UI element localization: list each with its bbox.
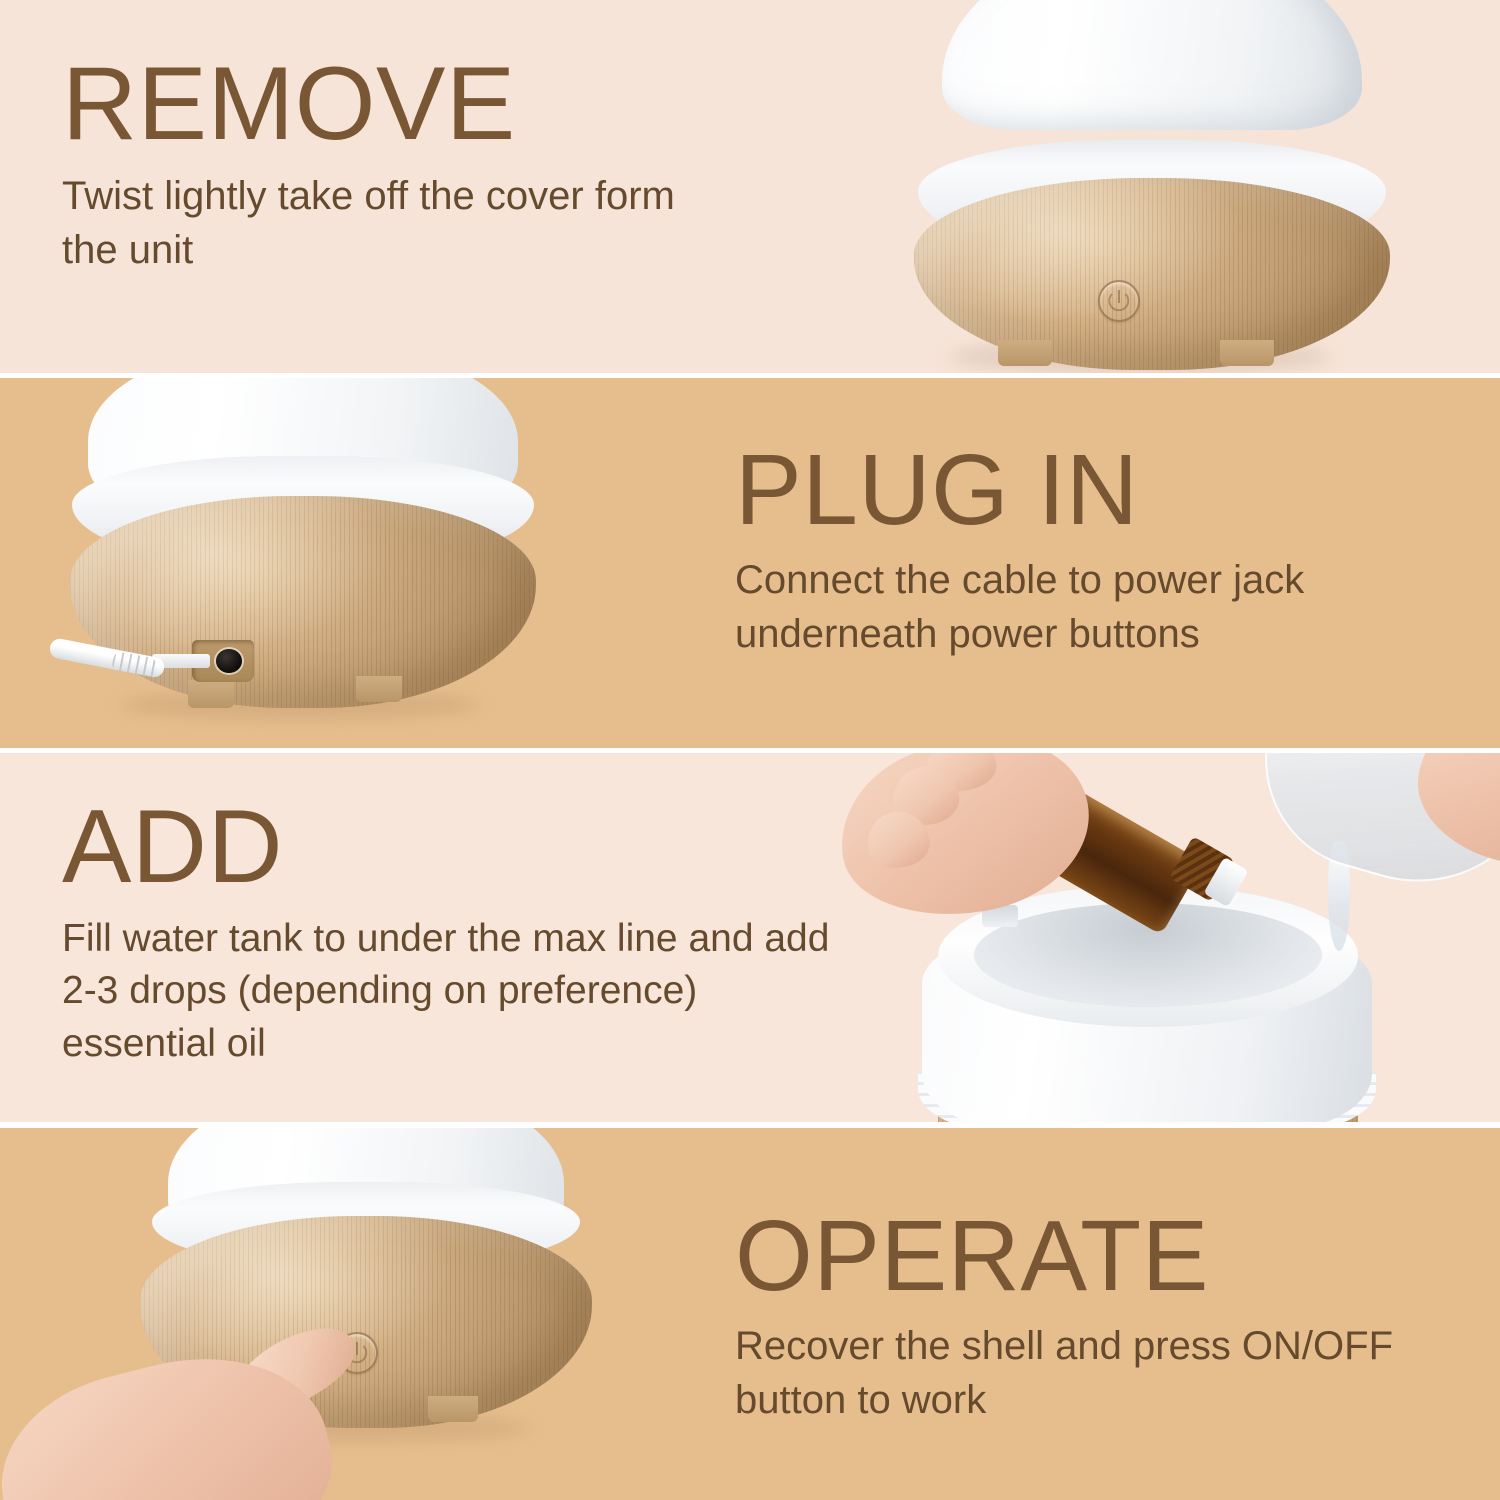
step-heading-remove: REMOVE (62, 52, 722, 156)
power-button-icon[interactable] (1098, 280, 1140, 322)
step-caption-operate: Recover the shell and press ON/OFF butto… (735, 1320, 1455, 1427)
step-heading-add: ADD (62, 795, 852, 899)
product-image-plug-in (40, 378, 660, 748)
diffuser-foot-right (428, 1396, 478, 1422)
step-text-add: ADD Fill water tank to under the max lin… (62, 795, 852, 1070)
step-panel-add: ADD Fill water tank to under the max lin… (0, 753, 1500, 1122)
diffuser-foot-left (188, 680, 234, 708)
diffuser-wood-base (914, 178, 1390, 370)
step-text-remove: REMOVE Twist lightly take off the cover … (62, 52, 722, 277)
wood-shading (914, 178, 1390, 370)
product-image-operate (40, 1128, 680, 1500)
step-text-operate: OPERATE Recover the shell and press ON/O… (735, 1206, 1455, 1427)
step-caption-add: Fill water tank to under the max line an… (62, 913, 852, 1070)
step-text-plug-in: PLUG IN Connect the cable to power jack … (735, 440, 1455, 661)
step-heading-plug-in: PLUG IN (735, 440, 1455, 540)
step-heading-operate: OPERATE (735, 1206, 1455, 1306)
diffuser-foot-left (998, 340, 1052, 366)
step-caption-remove: Twist lightly take off the cover form th… (62, 170, 722, 277)
diffuser-cover (942, 0, 1362, 130)
diffuser-foot-right (356, 676, 402, 702)
step-panel-plug-in: PLUG IN Connect the cable to power jack … (0, 378, 1500, 748)
step-panel-remove: REMOVE Twist lightly take off the cover … (0, 0, 1500, 373)
step-caption-plug-in: Connect the cable to power jack undernea… (735, 554, 1455, 661)
instruction-infographic: REMOVE Twist lightly take off the cover … (0, 0, 1500, 1500)
product-image-add (830, 753, 1500, 1122)
step-panel-operate: OPERATE Recover the shell and press ON/O… (0, 1128, 1500, 1500)
diffuser-foot-right (1220, 340, 1274, 366)
power-jack-hole (216, 649, 242, 673)
product-image-remove (880, 0, 1440, 373)
